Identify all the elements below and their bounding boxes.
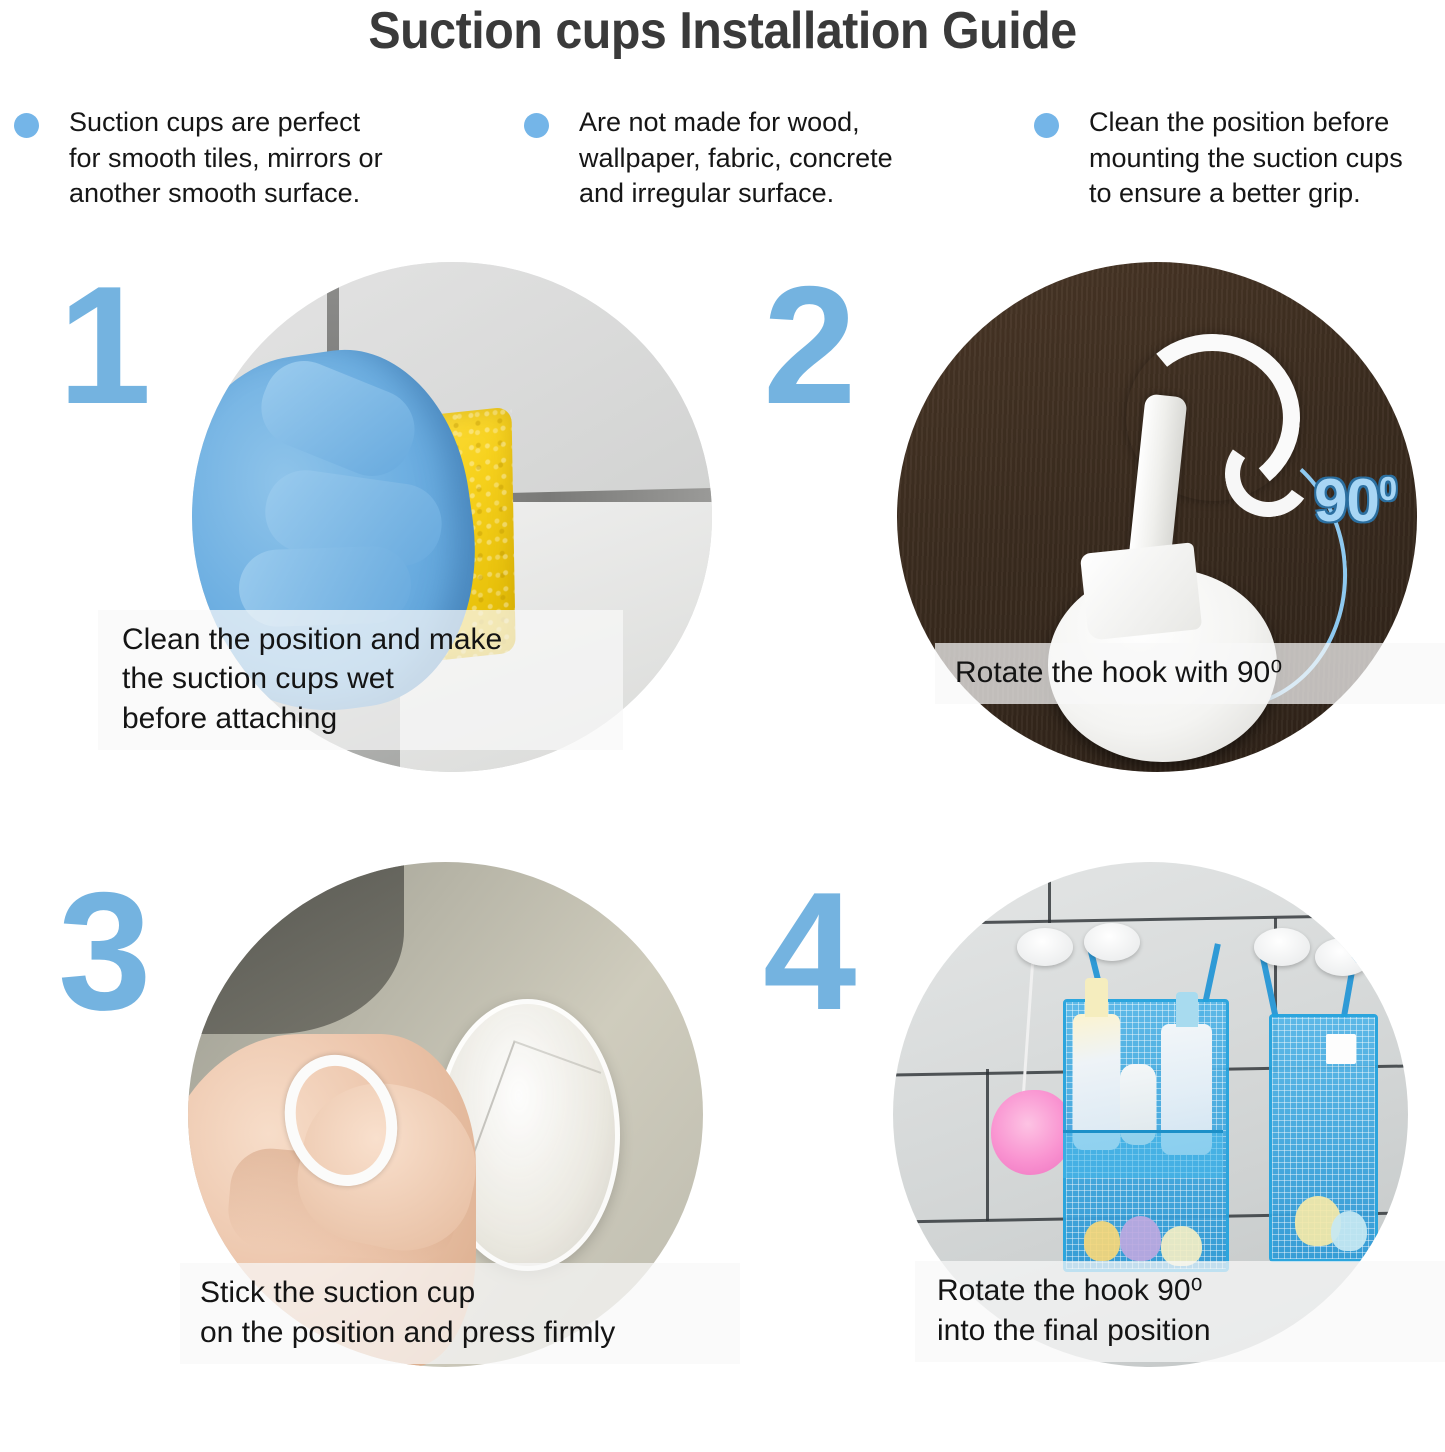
bullet-item-2: Are not made for wood, wallpaper, fabric… — [524, 105, 1034, 213]
bullet-item-3: Clean the position before mounting the s… — [1034, 105, 1444, 213]
step-card-4: 4 — [745, 854, 1445, 1384]
step-card-1: 1 Clean the position and make the suctio… — [40, 254, 740, 784]
angle-unit: 0 — [1379, 470, 1396, 507]
suction-hook-icon — [1254, 928, 1310, 966]
step-number-2: 2 — [763, 266, 856, 426]
step-caption-4: Rotate the hook 90⁰ into the final posit… — [915, 1261, 1445, 1362]
bullet-item-1: Suction cups are perfect for smooth tile… — [14, 105, 524, 213]
suction-hook-icon — [1315, 938, 1371, 976]
bullet-text-3: Clean the position before mounting the s… — [1089, 105, 1403, 213]
angle-label: 900 — [1314, 466, 1396, 535]
page-title: Suction cups Installation Guide — [51, 0, 1395, 59]
angle-value: 90 — [1314, 467, 1379, 534]
bullet-text-1: Suction cups are perfect for smooth tile… — [69, 105, 383, 213]
bullet-list: Suction cups are perfect for smooth tile… — [0, 105, 1445, 213]
bullet-dot-icon — [524, 113, 549, 138]
bullet-dot-icon — [1034, 113, 1059, 138]
step-card-3: 3 Stick the suction cup on the position … — [40, 854, 740, 1384]
step-number-4: 4 — [763, 872, 856, 1032]
bullet-text-2: Are not made for wood, wallpaper, fabric… — [579, 105, 893, 213]
suction-hook-icon — [1017, 928, 1073, 966]
bullet-dot-icon — [14, 113, 39, 138]
step-card-2: 2 900 Rotate the hook with 90⁰ — [745, 254, 1445, 784]
step-caption-2: Rotate the hook with 90⁰ — [935, 643, 1445, 705]
step-caption-3: Stick the suction cup on the position an… — [180, 1263, 740, 1364]
suction-hook-icon — [1084, 923, 1140, 961]
step-number-1: 1 — [58, 266, 151, 426]
step-number-3: 3 — [58, 872, 151, 1032]
step-caption-1: Clean the position and make the suction … — [98, 610, 623, 751]
